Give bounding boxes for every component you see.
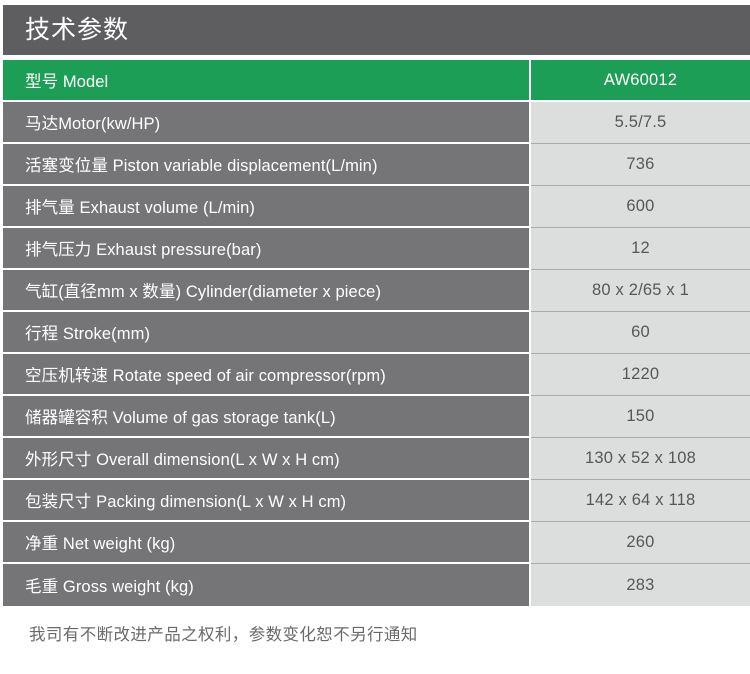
- specifications-table: 型号 Model AW60012 马达Motor(kw/HP) 5.5/7.5 …: [3, 60, 750, 606]
- spec-sheet: 技术参数 型号 Model AW60012 马达Motor(kw/HP) 5.5…: [0, 0, 750, 674]
- spec-label: 外形尺寸 Overall dimension(L x W x H cm): [3, 438, 531, 480]
- spec-label: 净重 Net weight (kg): [3, 522, 531, 564]
- spec-label: 排气量 Exhaust volume (L/min): [3, 186, 531, 228]
- spec-label: 活塞变位量 Piston variable displacement(L/min…: [3, 144, 531, 186]
- table-row: 包装尺寸 Packing dimension(L x W x H cm) 142…: [3, 480, 750, 522]
- spec-table-body: 型号 Model AW60012 马达Motor(kw/HP) 5.5/7.5 …: [3, 60, 750, 606]
- model-value-cell: AW60012: [531, 60, 750, 102]
- footnote-text: 我司有不断改进产品之权利，参数变化恕不另行通知: [3, 621, 750, 645]
- spec-value: 283: [531, 564, 750, 606]
- spec-value: 260: [531, 522, 750, 564]
- table-row: 活塞变位量 Piston variable displacement(L/min…: [3, 144, 750, 186]
- page-title: 技术参数: [25, 18, 129, 43]
- spec-value: 150: [531, 396, 750, 438]
- spec-value: 600: [531, 186, 750, 228]
- spec-value: 736: [531, 144, 750, 186]
- spec-label: 马达Motor(kw/HP): [3, 102, 531, 144]
- spec-value: 12: [531, 228, 750, 270]
- table-row: 马达Motor(kw/HP) 5.5/7.5: [3, 102, 750, 144]
- spec-value: 5.5/7.5: [531, 102, 750, 144]
- table-row: 外形尺寸 Overall dimension(L x W x H cm) 130…: [3, 438, 750, 480]
- spec-value: 60: [531, 312, 750, 354]
- spec-value: 80 x 2/65 x 1: [531, 270, 750, 312]
- table-row: 行程 Stroke(mm) 60: [3, 312, 750, 354]
- table-row: 排气压力 Exhaust pressure(bar) 12: [3, 228, 750, 270]
- spec-value: 1220: [531, 354, 750, 396]
- spec-label: 毛重 Gross weight (kg): [3, 564, 531, 606]
- table-row-model: 型号 Model AW60012: [3, 60, 750, 102]
- spec-label: 气缸(直径mm x 数量) Cylinder(diameter x piece): [3, 270, 531, 312]
- table-row: 排气量 Exhaust volume (L/min) 600: [3, 186, 750, 228]
- table-row: 空压机转速 Rotate speed of air compressor(rpm…: [3, 354, 750, 396]
- spec-label: 包装尺寸 Packing dimension(L x W x H cm): [3, 480, 531, 522]
- spec-label: 行程 Stroke(mm): [3, 312, 531, 354]
- page-title-band: 技术参数: [3, 5, 750, 55]
- spec-value: 142 x 64 x 118: [531, 480, 750, 522]
- model-label-cell: 型号 Model: [3, 60, 531, 102]
- spec-value: 130 x 52 x 108: [531, 438, 750, 480]
- table-row: 储器罐容积 Volume of gas storage tank(L) 150: [3, 396, 750, 438]
- table-row: 毛重 Gross weight (kg) 283: [3, 564, 750, 606]
- spec-label: 储器罐容积 Volume of gas storage tank(L): [3, 396, 531, 438]
- table-row: 气缸(直径mm x 数量) Cylinder(diameter x piece)…: [3, 270, 750, 312]
- spec-label: 排气压力 Exhaust pressure(bar): [3, 228, 531, 270]
- spec-label: 空压机转速 Rotate speed of air compressor(rpm…: [3, 354, 531, 396]
- table-row: 净重 Net weight (kg) 260: [3, 522, 750, 564]
